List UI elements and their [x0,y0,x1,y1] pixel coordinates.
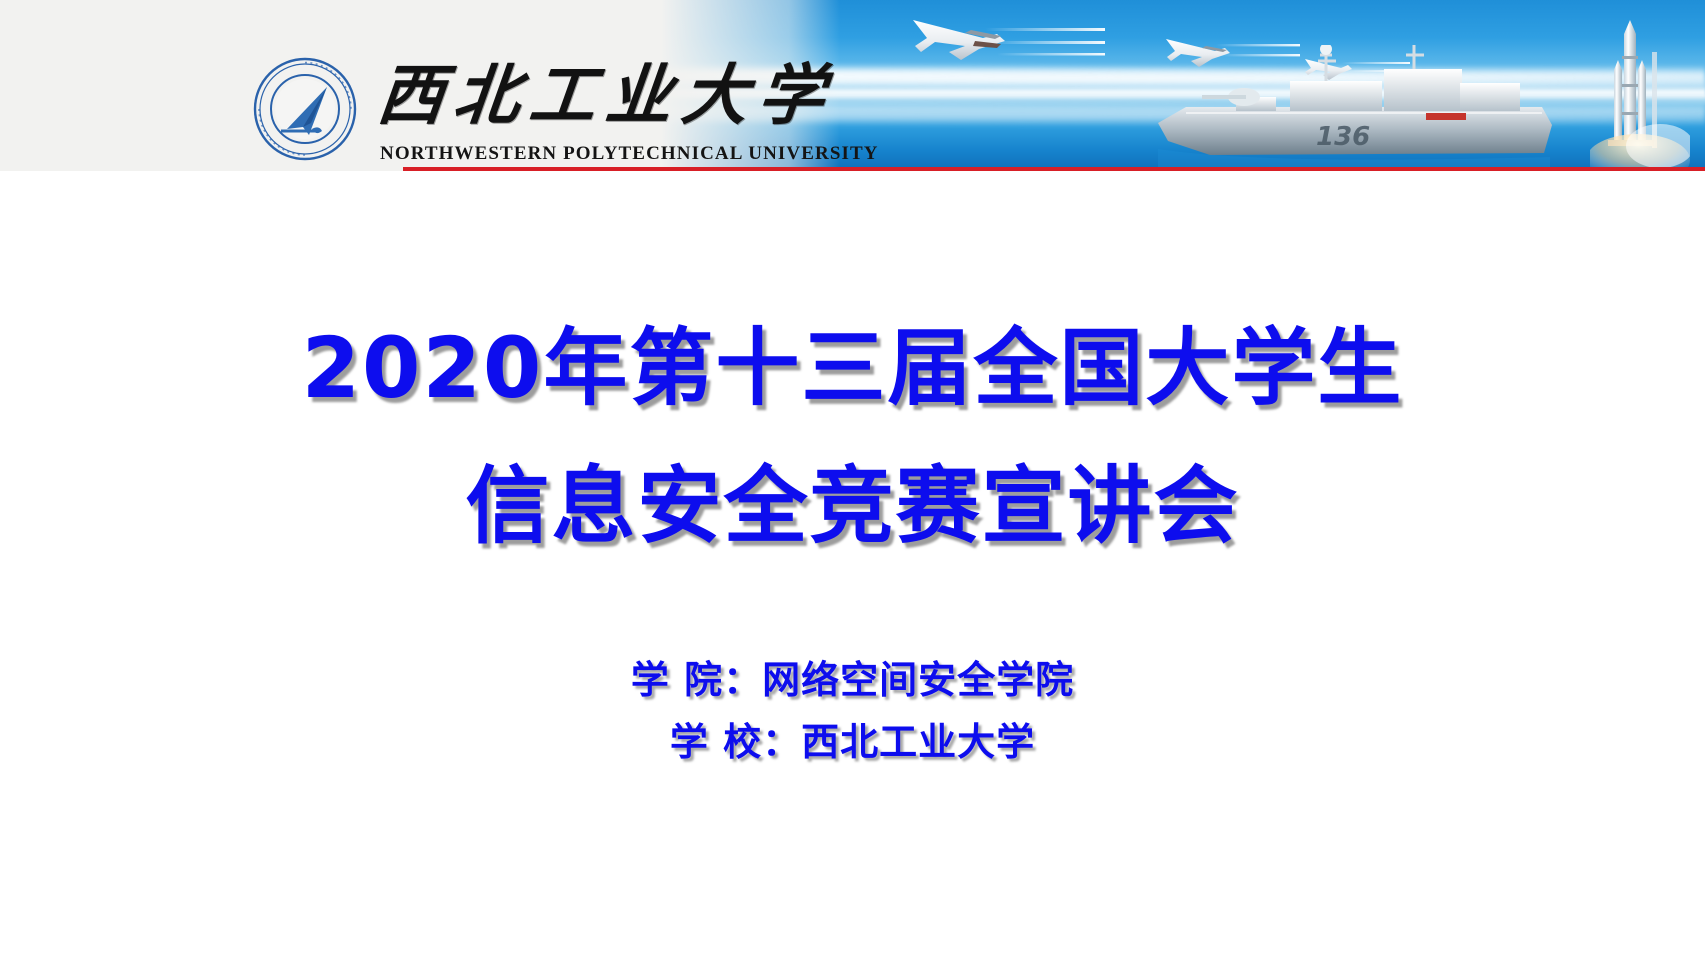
slide-body: 2020年第十三届全国大学生 信息安全竞赛宣讲会 学 院：网络空间安全学院 学 … [0,171,1705,955]
university-name-en: NORTHWESTERN POLYTECHNICAL UNIVERSITY [380,143,879,165]
university-name-cn: 西北工业大学 [374,57,838,133]
title-line-1: 2020年第十三届全国大学生 [0,299,1705,437]
npu-seal-emblem-icon [253,57,357,161]
title-line-2: 信息安全竞赛宣讲会 [0,437,1705,575]
naval-destroyer-icon: 136 [1140,45,1560,171]
fighter-jet-icon-1 [905,8,1105,88]
launch-rocket-icon [1590,14,1690,169]
presentation-slide: 136 [0,0,1705,955]
slide-subtitle-info: 学 院：网络空间安全学院 学 校：西北工业大学 [0,649,1705,773]
info-line-school: 学 校：西北工业大学 [0,711,1705,773]
svg-text:136: 136 [1316,122,1370,152]
info-line-college: 学 院：网络空间安全学院 [0,649,1705,711]
slide-title: 2020年第十三届全国大学生 信息安全竞赛宣讲会 [0,299,1705,575]
header-banner: 136 [0,0,1705,171]
